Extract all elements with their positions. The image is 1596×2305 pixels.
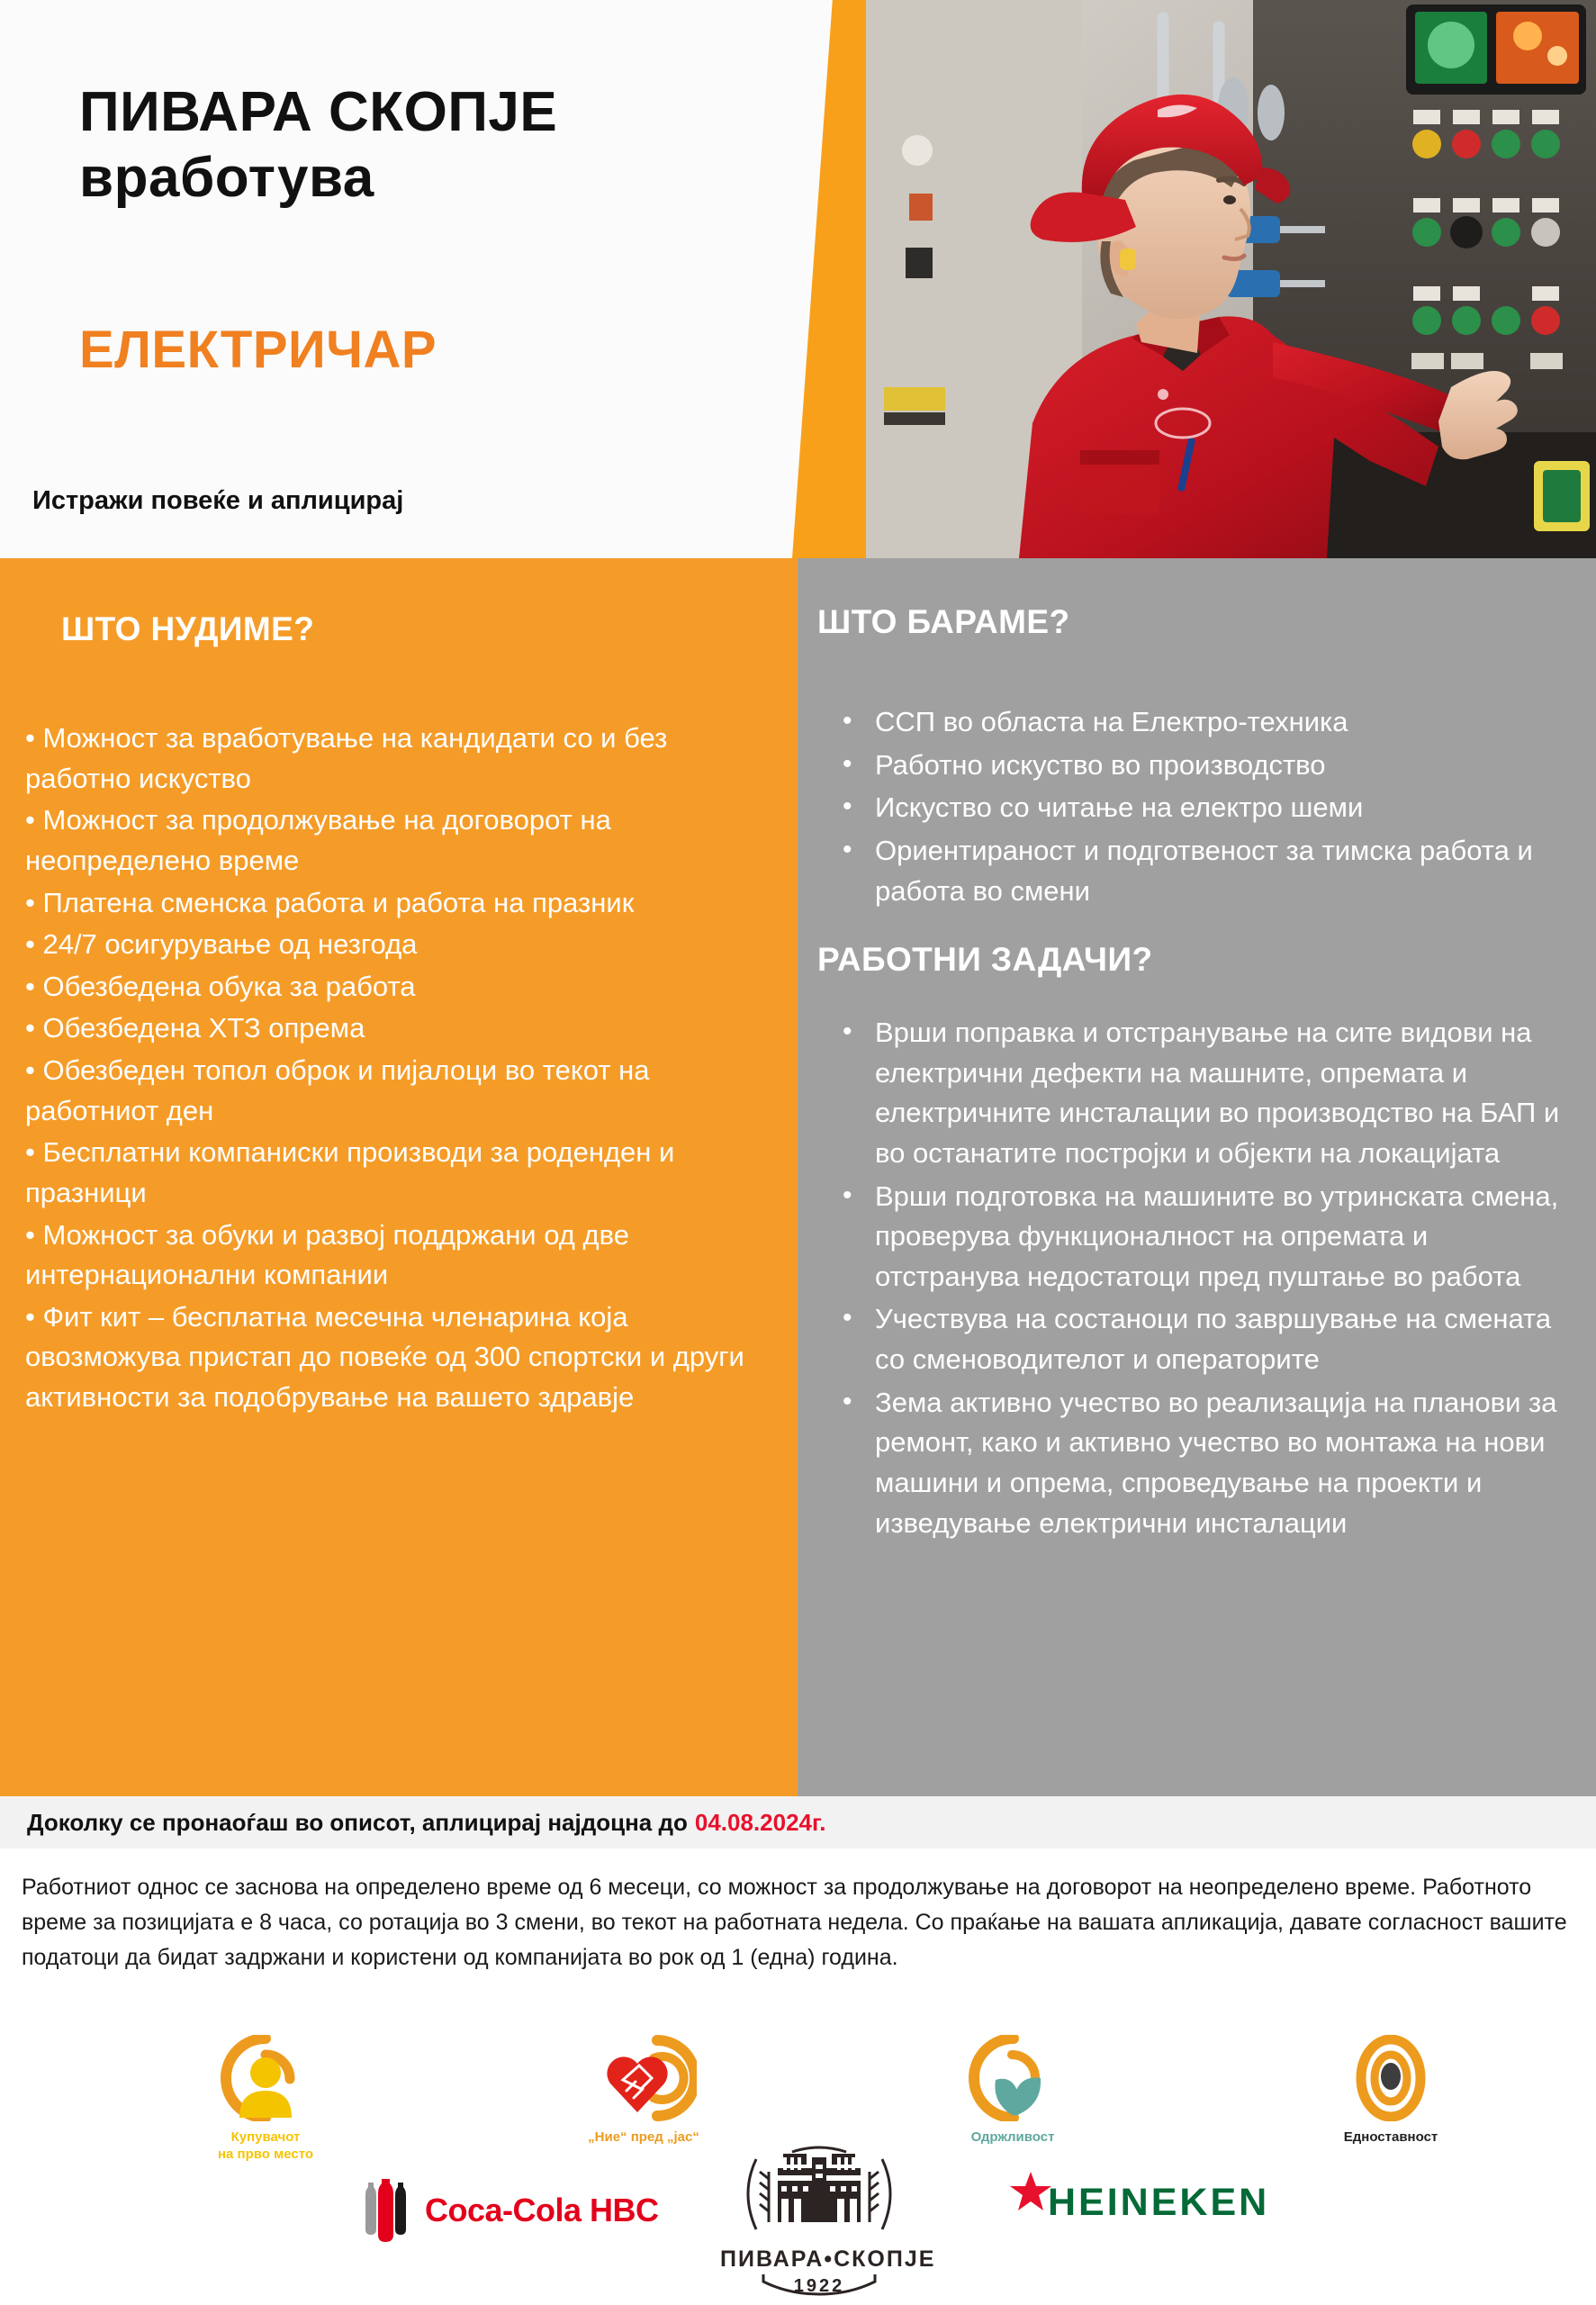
pivara-skopje-logo: ПИВАРА•СКОПЈЕ 1922 <box>720 2145 918 2297</box>
value-simplicity: Едноставност <box>1287 2035 1494 2147</box>
heineken-label: HEINEKEN <box>1048 2181 1269 2225</box>
pivara-skopje-year: 1922 <box>720 2276 918 2297</box>
tasks-list: Врши поправка и отстранување на сите вид… <box>823 1013 1579 1546</box>
worker-control-panel-illustration <box>866 0 1596 558</box>
cta-text: Истражи повеќе и аплицирај <box>32 486 403 516</box>
offer-item: • 24/7 осигурување од незгода <box>25 925 772 965</box>
offer-item: • Обезбедена ХТЗ опрема <box>25 1008 772 1049</box>
offer-item: • Можност за обуки и развој поддржани од… <box>25 1216 772 1296</box>
value-sustainability: Одржливост <box>909 2035 1116 2147</box>
heineken-star-icon <box>1010 2172 1051 2211</box>
offer-item: • Можност за продолжување на договорот н… <box>25 800 772 881</box>
offer-item: • Бесплатни компаниски производи за роде… <box>25 1133 772 1213</box>
we-before-me-heart-handshake-icon <box>591 2035 697 2121</box>
coca-cola-hbc-logo: Coca-Cola HBC <box>360 2179 659 2242</box>
value-customer-first: Купувачот на прво место <box>162 2035 369 2164</box>
tasks-heading: РАБОТНИ ЗАДАЧИ? <box>817 941 1152 979</box>
task-item: Врши подготовка на машините во утринскат… <box>823 1177 1579 1297</box>
brand-logos-row: Coca-Cola HBC <box>0 2170 1596 2296</box>
value-simplicity-caption: Едноставност <box>1287 2129 1494 2147</box>
deadline-label: Доколку се пронаоѓаш во описот, аплицира… <box>27 1809 688 1837</box>
task-item: Учествува на состаноци по завршување на … <box>823 1299 1579 1379</box>
value-we-before-me-caption: „Ние“ пред „јас“ <box>540 2129 747 2147</box>
task-item: Врши поправка и отстранување на сите вид… <box>823 1013 1579 1174</box>
requirements-heading: ШТО БАРАМЕ? <box>817 603 1069 641</box>
offer-list: • Можност за вработување на кандидати со… <box>25 719 772 1420</box>
sustainability-leaf-icon <box>960 2035 1066 2121</box>
offer-panel: ШТО НУДИМЕ? • Можност за вработување на … <box>0 558 798 1796</box>
brewery-building-icon <box>729 2145 909 2242</box>
value-customer-first-caption: Купувачот на прво место <box>162 2129 369 2164</box>
requirement-item: ССП во областа на Електро-техника <box>823 702 1579 743</box>
value-sustainability-caption: Одржливост <box>909 2129 1116 2147</box>
requirement-item: Работно искуство во производство <box>823 746 1579 786</box>
simplicity-target-icon <box>1338 2035 1444 2121</box>
poster-header: ПИВАРА СКОПЈЕ вработува ЕЛЕКТРИЧАР Истра… <box>0 0 1596 558</box>
coca-cola-hbc-label: Coca-Cola HBC <box>425 2192 659 2229</box>
customer-first-icon <box>212 2035 319 2121</box>
hero-photo <box>866 0 1596 558</box>
requirement-item: Ориентираност и подготвеност за тимска р… <box>823 831 1579 911</box>
requirements-list: ССП во областа на Електро-техникаРаботно… <box>823 702 1579 914</box>
legal-paragraph: Работниот однос се заснова на определено… <box>22 1870 1579 1975</box>
pivara-skopje-wordmark: ПИВАРА•СКОПЈЕ <box>720 2246 918 2273</box>
position-title: ЕЛЕКТРИЧАР <box>79 320 437 380</box>
offer-item: • Можност за вработување на кандидати со… <box>25 719 772 799</box>
requirement-item: Искуство со читање на електро шеми <box>823 788 1579 828</box>
deadline-strip: Доколку се пронаоѓаш во описот, аплицира… <box>0 1796 1596 1849</box>
offer-heading: ШТО НУДИМЕ? <box>61 610 314 648</box>
task-item: Зема активно учество во реализација на п… <box>823 1383 1579 1544</box>
heineken-logo: HEINEKEN <box>1010 2181 1269 2225</box>
offer-item: • Фит кит – бесплатна месечна членарина … <box>25 1297 772 1418</box>
requirements-panel: ШТО БАРАМЕ? ССП во областа на Електро-те… <box>798 558 1596 1796</box>
value-we-before-me: „Ние“ пред „јас“ <box>540 2035 747 2147</box>
deadline-date: 04.08.2024г. <box>695 1809 826 1837</box>
company-name: ПИВАРА СКОПЈЕ вработува <box>79 79 557 211</box>
offer-item: • Обезбедена обука за работа <box>25 967 772 1008</box>
coke-bottles-icon <box>360 2179 409 2242</box>
offer-item: • Платена сменска работа и работа на пра… <box>25 883 772 924</box>
poster-footer: Доколку се пронаоѓаш во описот, аплицира… <box>0 1796 1596 2305</box>
header-text-block: ПИВАРА СКОПЈЕ вработува ЕЛЕКТРИЧАР Истра… <box>0 0 810 558</box>
content-panels: ШТО НУДИМЕ? • Можност за вработување на … <box>0 558 1596 1796</box>
offer-item: • Обезбеден топол оброк и пијалоци во те… <box>25 1051 772 1131</box>
